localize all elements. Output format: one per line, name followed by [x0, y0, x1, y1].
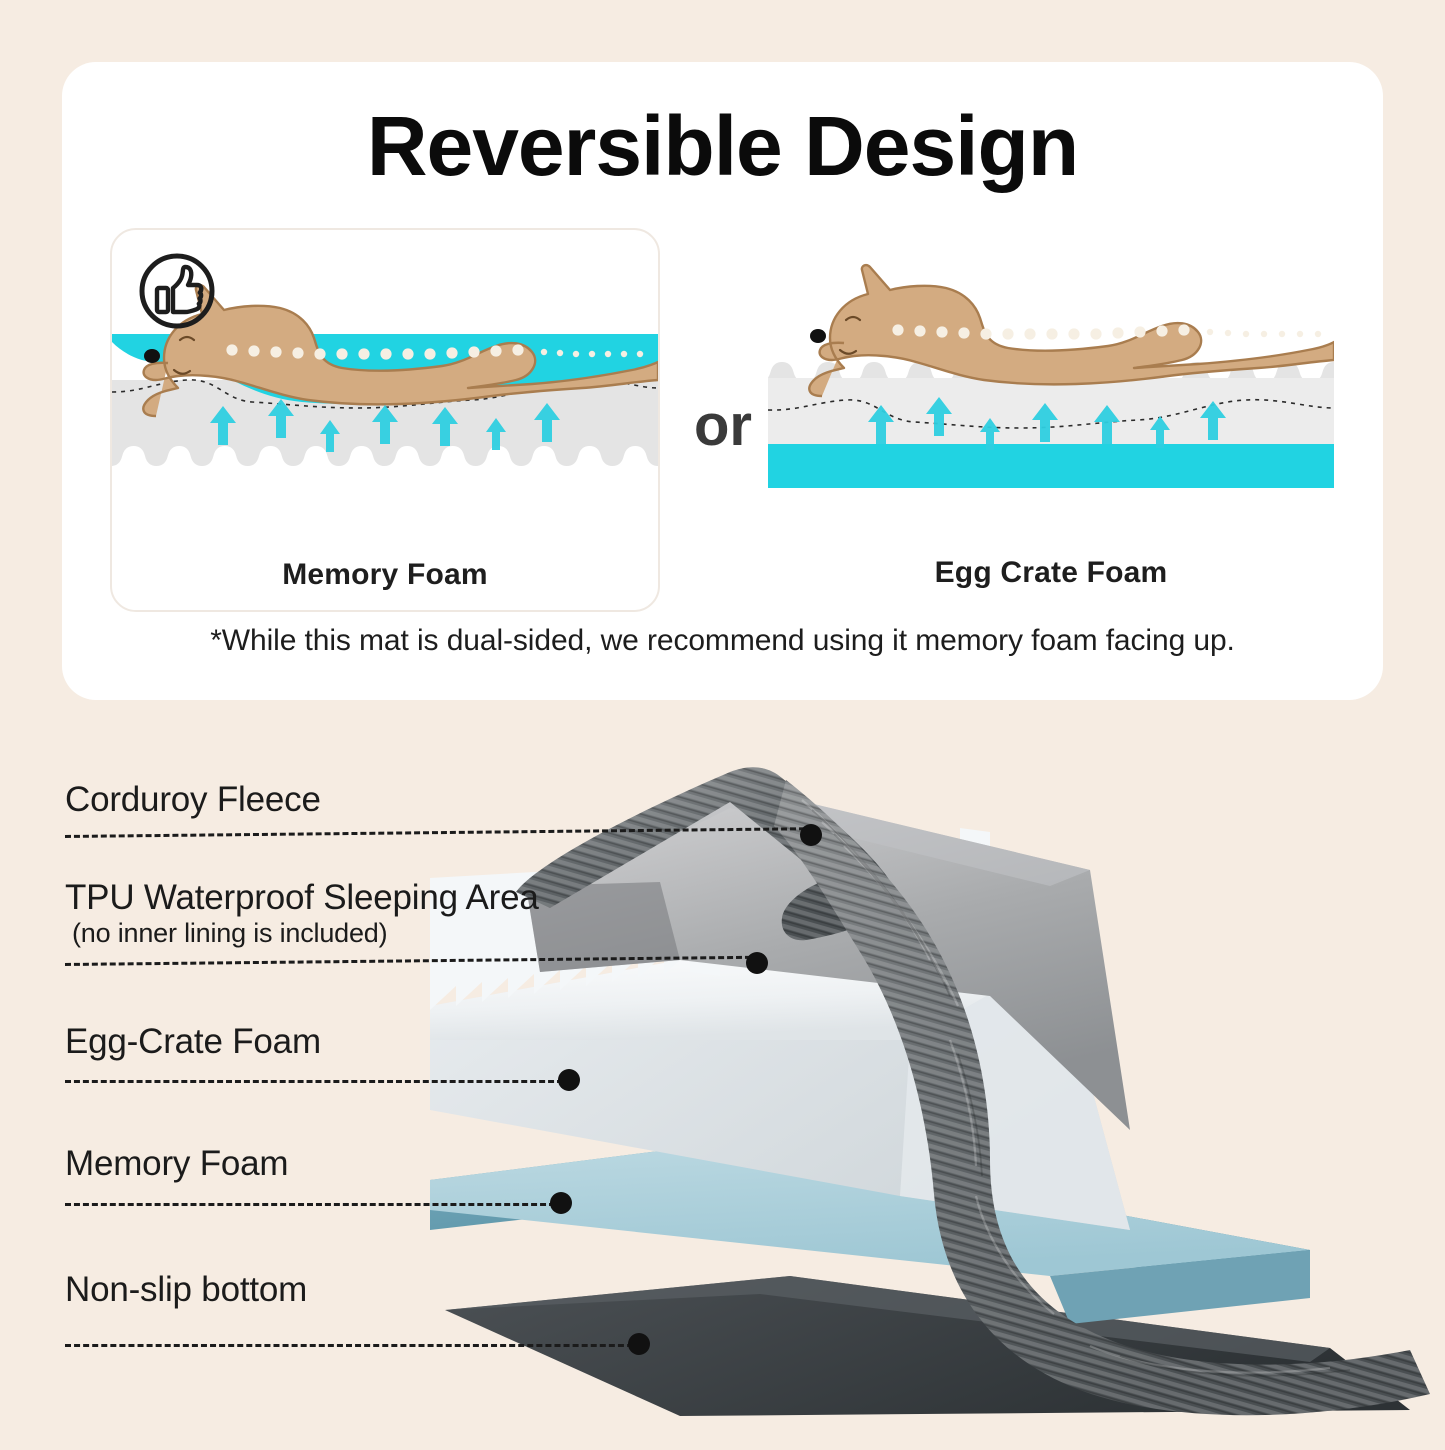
panel-caption-memory-foam: Memory Foam: [112, 558, 658, 592]
thumbs-up-icon: [138, 252, 216, 335]
layer-label-non-slip-bottom: Non-slip bottom: [65, 1270, 307, 1310]
layer-label-corduroy-fleece: Corduroy Fleece: [65, 780, 321, 820]
page-title: Reversible Design: [62, 104, 1383, 188]
panel-memory-foam: Memory Foam: [110, 228, 660, 612]
construction-diagram: Corduroy Fleece TPU Waterproof Sleeping …: [0, 700, 1445, 1445]
layer-label-memory-foam: Memory Foam: [65, 1144, 288, 1184]
leader-line-egg-crate-foam: [65, 1080, 563, 1083]
leader-dot-non-slip-bottom: [628, 1333, 650, 1355]
layer-label-tpu: TPU Waterproof Sleeping Area: [65, 878, 539, 918]
panel-egg-crate-foam: Egg Crate Foam: [768, 228, 1334, 608]
panel-caption-egg-crate-foam: Egg Crate Foam: [768, 556, 1334, 590]
leader-line-memory-foam: [65, 1203, 555, 1206]
sleeping-dog-icon: [809, 265, 1334, 396]
reversible-footnote: *While this mat is dual-sided, we recomm…: [62, 624, 1383, 658]
leader-line-non-slip-bottom: [65, 1344, 633, 1347]
reversible-design-card: Reversible Design: [62, 62, 1383, 700]
layer-label-egg-crate-foam: Egg-Crate Foam: [65, 1022, 321, 1062]
leader-dot-corduroy-fleece: [800, 824, 822, 846]
egg-crate-illustration: [768, 228, 1334, 528]
memory-foam-layer: [768, 442, 1334, 488]
dog-nose: [144, 349, 160, 363]
dog-nose: [810, 329, 826, 343]
egg-crate-diagram-svg: [768, 228, 1334, 528]
leader-dot-tpu: [746, 952, 768, 974]
leader-dot-memory-foam: [550, 1192, 572, 1214]
or-divider: or: [678, 392, 768, 459]
leader-dot-egg-crate-foam: [558, 1069, 580, 1091]
product-cutaway-image: [430, 710, 1445, 1445]
layer-note-tpu: (no inner lining is included): [72, 918, 387, 949]
